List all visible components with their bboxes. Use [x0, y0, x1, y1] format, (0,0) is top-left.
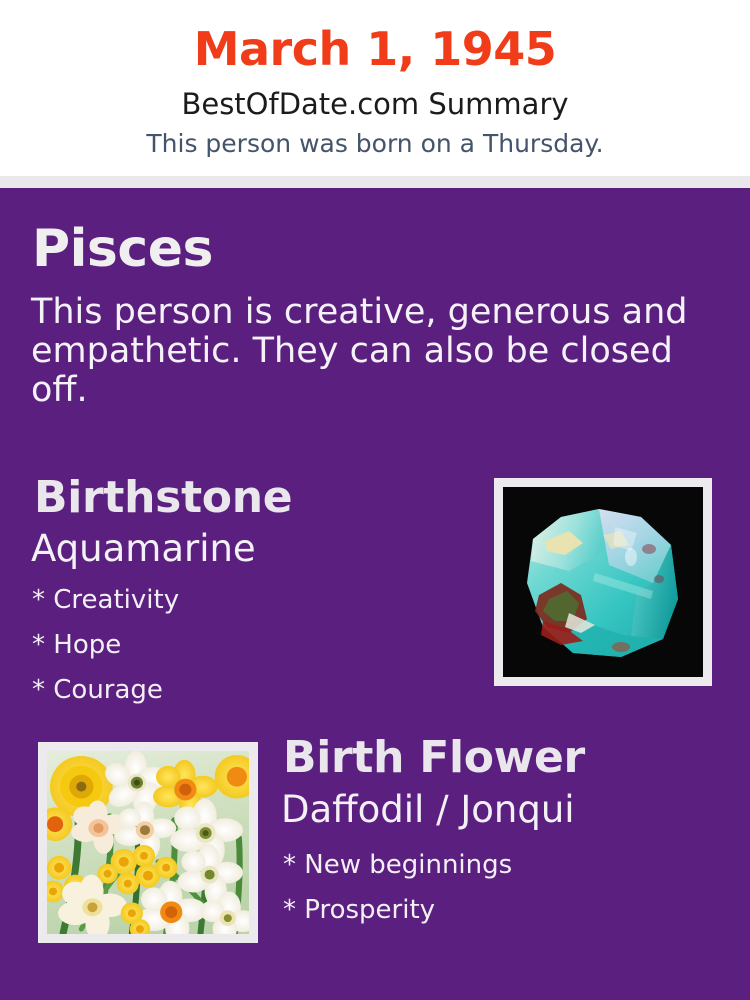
birth-flower-heading: Birth Flower	[283, 733, 585, 783]
list-item: * New beginnings	[283, 843, 512, 888]
page-title-date: March 1, 1945	[0, 23, 750, 75]
list-item: * Prosperity	[283, 888, 512, 933]
birthstone-name: Aquamarine	[31, 528, 256, 570]
aquamarine-crystal-icon	[503, 487, 703, 677]
list-item: * Courage	[32, 668, 179, 713]
birth-flower-trait-list: * New beginnings * Prosperity	[283, 843, 512, 933]
zodiac-sign-title: Pisces	[32, 220, 213, 278]
birthstone-image-frame	[494, 478, 712, 686]
zodiac-description: This person is creative, generous and em…	[31, 293, 709, 410]
list-item: * Creativity	[32, 578, 179, 623]
weekday-note: This person was born on a Thursday.	[0, 129, 750, 159]
header-divider	[0, 176, 750, 188]
birth-flower-image-frame	[38, 742, 258, 943]
birthstone-image	[503, 487, 703, 677]
list-item: * Hope	[32, 623, 179, 668]
header: March 1, 1945 BestOfDate.com Summary Thi…	[0, 0, 750, 176]
birth-flower-image	[47, 751, 249, 934]
birthstone-heading: Birthstone	[34, 473, 292, 523]
site-summary-label: BestOfDate.com Summary	[0, 87, 750, 121]
birthstone-trait-list: * Creativity * Hope * Courage	[32, 578, 179, 713]
content-panel: Pisces This person is creative, generous…	[0, 188, 750, 1000]
birth-flower-name: Daffodil / Jonqui	[281, 789, 575, 831]
summary-card: March 1, 1945 BestOfDate.com Summary Thi…	[0, 0, 750, 1000]
daffodil-flowers-icon	[47, 751, 249, 934]
